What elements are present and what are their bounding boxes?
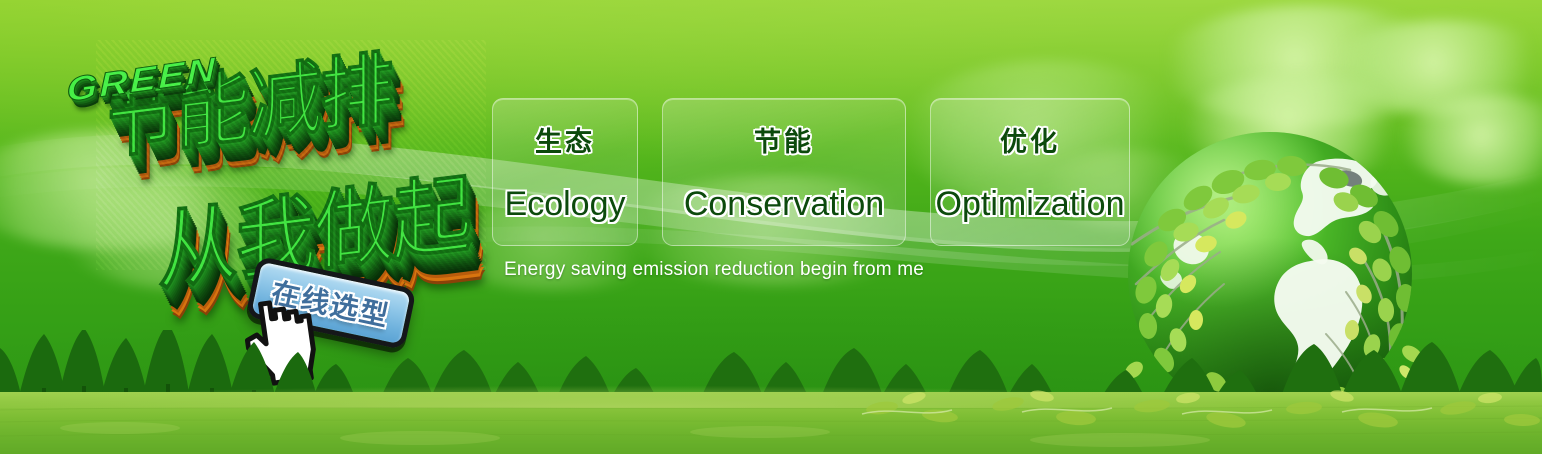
feature-card-cn-label: 优化 (1000, 120, 1060, 159)
feature-card-cn-label: 生态 (535, 120, 595, 159)
headline-artwork: 节能减排 从我做起 GREEN (96, 40, 486, 270)
feature-card-en-label: Optimization (936, 185, 1125, 224)
feature-card-cn-label: 节能 (754, 120, 814, 159)
tagline-text: Energy saving emission reduction begin f… (504, 259, 924, 281)
online-selection-cta[interactable]: 在线选型 (250, 272, 425, 352)
online-selection-label: 在线选型 (268, 271, 394, 335)
cloud-icon (1160, 5, 1460, 125)
feature-card-list: 生态 Ecology 节能 Conservation 优化 Optimizati… (492, 98, 1130, 246)
feature-card-en-label: Ecology (505, 185, 626, 224)
eco-banner: 节能减排 从我做起 GREEN 在线选型 生态 Ecology 节能 Conse… (0, 0, 1542, 454)
cloud-icon (1330, 20, 1542, 115)
feature-card-en-label: Conservation (684, 185, 884, 224)
feature-card-conservation[interactable]: 节能 Conservation (662, 98, 906, 246)
leafy-earth-globe-icon (1120, 124, 1426, 430)
feature-card-optimization[interactable]: 优化 Optimization (930, 98, 1130, 246)
feature-card-ecology[interactable]: 生态 Ecology (492, 98, 638, 246)
